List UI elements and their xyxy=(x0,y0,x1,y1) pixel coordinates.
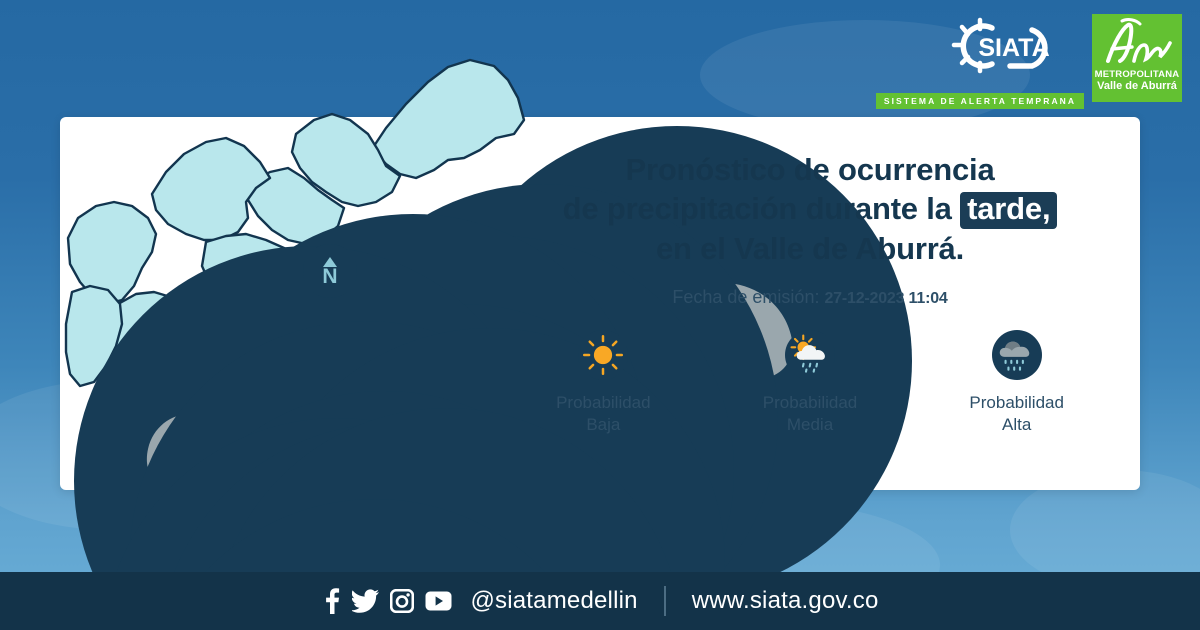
area-logo-sub2: Valle de Aburrá xyxy=(1097,80,1177,92)
legend-label-line2: Alta xyxy=(969,414,1064,436)
headline-line-3: en el Valle de Aburrá. xyxy=(500,229,1120,268)
legend-item-media: ProbabilidadMedia xyxy=(707,330,914,436)
map-station-la-estrella xyxy=(212,373,264,425)
headline-line-2-text: de precipitación durante la xyxy=(563,191,952,226)
emission-date: Fecha de emisión: 27-12-2023 11:04 xyxy=(500,287,1120,308)
valle-de-aburra-map: N xyxy=(56,42,526,582)
social-handle[interactable]: @siatamedellin xyxy=(470,587,637,615)
youtube-icon[interactable] xyxy=(425,591,452,611)
sun-rain-cloud-icon xyxy=(785,330,835,380)
page-title: Pronóstico de ocurrencia de precipitació… xyxy=(500,150,1120,268)
twitter-icon[interactable] xyxy=(352,589,379,613)
rain-cloud-icon xyxy=(992,330,1042,380)
map-station-itagui xyxy=(102,383,154,435)
map-station-sabaneta xyxy=(158,388,210,440)
headline-block: Pronóstico de ocurrencia de precipitació… xyxy=(500,150,1120,308)
legend-item-baja: ProbabilidadBaja xyxy=(500,330,707,436)
sun-icon xyxy=(578,330,628,380)
legend-item-alta: ProbabilidadAlta xyxy=(913,330,1120,436)
probability-legend: ProbabilidadBajaProbabilidadMediaProbabi… xyxy=(500,330,1120,436)
map-station-barbosa xyxy=(442,91,494,143)
map-station-san-jeronimo xyxy=(74,211,126,263)
headline-line-2: de precipitación durante la tarde, xyxy=(500,189,1120,229)
footer-divider xyxy=(664,586,666,616)
area-logo-sub1: METROPOLITANA xyxy=(1095,69,1180,80)
emission-date-label: Fecha de emisión: xyxy=(672,287,819,307)
footer-bar: @siatamedellin www.siata.gov.co xyxy=(0,572,1200,630)
sun-icon xyxy=(578,330,628,380)
emission-date-value: 27-12-2023 11:04 xyxy=(824,290,947,307)
legend-label: ProbabilidadMedia xyxy=(763,392,858,436)
siata-tagline-text: SISTEMA DE ALERTA TEMPRANA xyxy=(884,96,1076,106)
website-url[interactable]: www.siata.gov.co xyxy=(692,587,879,615)
social-icons-group xyxy=(321,588,452,614)
rain-cloud-icon xyxy=(992,330,1042,380)
headline-highlight-tarde: tarde, xyxy=(960,192,1057,229)
siata-tagline-bar: SISTEMA DE ALERTA TEMPRANA xyxy=(876,93,1084,109)
legend-label-line1: Probabilidad xyxy=(556,392,651,414)
legend-label-line2: Baja xyxy=(556,414,651,436)
infographic-root: N Pronóstico de ocurrencia de precipitac… xyxy=(0,0,1200,630)
facebook-icon[interactable] xyxy=(321,588,341,614)
siata-logo: SIATA xyxy=(946,14,1084,90)
sun-rain-cloud-icon xyxy=(785,330,835,380)
map-station-caldas xyxy=(140,464,192,516)
headline-line-1: Pronóstico de ocurrencia xyxy=(500,150,1120,189)
legend-label: ProbabilidadAlta xyxy=(969,392,1064,436)
legend-label-line2: Media xyxy=(763,414,858,436)
map-station-medellin-norte xyxy=(130,286,182,338)
instagram-icon[interactable] xyxy=(390,589,414,613)
area-script-wordmark xyxy=(1098,17,1176,69)
siata-wordmark: SIATA xyxy=(978,34,1049,62)
logo-group: SIATA METROPOLITANA Valle de Aburrá xyxy=(946,14,1182,102)
legend-label: ProbabilidadBaja xyxy=(556,392,651,436)
legend-label-line1: Probabilidad xyxy=(969,392,1064,414)
area-metropolitana-logo: METROPOLITANA Valle de Aburrá xyxy=(1092,14,1182,102)
compass-label: N xyxy=(322,268,337,286)
legend-label-line1: Probabilidad xyxy=(763,392,858,414)
map-station-medellin-centro xyxy=(255,293,307,345)
compass-north-icon: N xyxy=(303,244,357,298)
